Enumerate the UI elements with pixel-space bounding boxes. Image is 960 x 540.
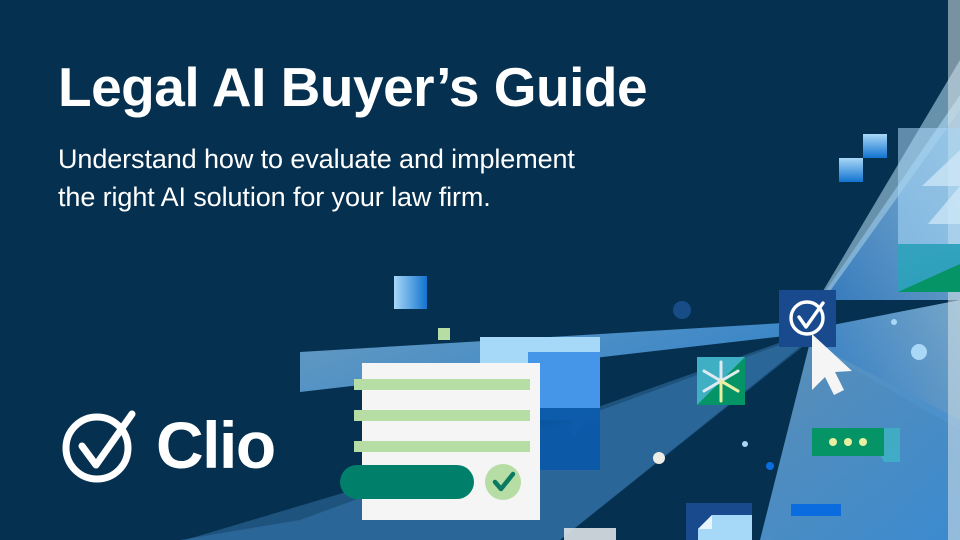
sparkle-tile	[697, 357, 745, 405]
document-text-bar	[354, 379, 530, 390]
subtitle-line-1: Understand how to evaluate and implement	[58, 144, 575, 174]
dot-light-blue	[911, 344, 927, 360]
hero-copy: Legal AI Buyer’s Guide Understand how to…	[58, 56, 758, 216]
page-fold-icon	[686, 503, 752, 540]
brand-logo: Clio	[58, 404, 275, 486]
dot-navy	[673, 301, 691, 319]
grey-bar	[564, 528, 616, 540]
gradient-square-large	[394, 276, 427, 309]
gradient-square-small-b	[863, 134, 887, 158]
document-icon	[340, 363, 540, 520]
dot-white	[653, 452, 665, 464]
clio-app-badge	[779, 290, 836, 347]
document-text-bar	[354, 410, 530, 421]
brand-wordmark: Clio	[156, 412, 275, 478]
mini-green-square	[438, 328, 450, 340]
clio-check-circle-icon	[58, 404, 140, 486]
page-title: Legal AI Buyer’s Guide	[58, 56, 758, 118]
bright-blue-bar	[791, 504, 841, 516]
check-circle-icon	[485, 464, 521, 500]
page-subtitle: Understand how to evaluate and implement…	[58, 140, 748, 216]
document-action-pill	[340, 465, 474, 499]
dot-blue-small	[766, 462, 774, 470]
dot-pale-tiny	[891, 319, 897, 325]
subtitle-line-2: the right AI solution for your law firm.	[58, 178, 748, 216]
document-text-bar	[354, 441, 530, 452]
dot-pale-small	[742, 441, 748, 447]
gradient-square-small-a	[839, 158, 863, 182]
hero-banner: Legal AI Buyer’s Guide Understand how to…	[0, 0, 960, 540]
